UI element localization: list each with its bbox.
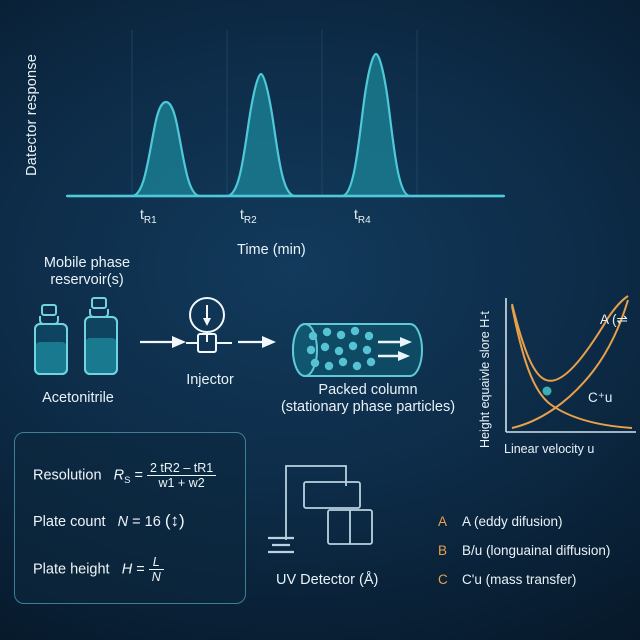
uv-detector-graphic bbox=[262, 430, 442, 570]
peak-label-tr2: tR2 bbox=[240, 206, 257, 226]
solvent-label: Acetonitrile bbox=[18, 390, 138, 407]
resolution-fraction: 2 tR2 – tR1 w1 + w2 bbox=[147, 461, 216, 490]
chromatogram-panel: Datector response tR1 tR2 tR4 Time (min) bbox=[12, 10, 512, 250]
van-deemter-total-curve bbox=[512, 296, 628, 381]
injector-label: Injector bbox=[160, 372, 260, 389]
injector-graphic bbox=[186, 298, 232, 352]
flow-diagram-panel: Mobile phase reservoir(s) bbox=[0, 250, 480, 430]
equation-resolution: Resolution RS = 2 tR2 – tR1 w1 + w2 bbox=[33, 461, 216, 490]
flow-arrow-1 bbox=[140, 336, 186, 348]
equation-plate-height: Plate height H = L N bbox=[33, 555, 164, 584]
van-deemter-panel: Height equaivle slore H-t A (⇌ C⁺u Linea… bbox=[478, 292, 640, 464]
diagram-canvas: Datector response tR1 tR2 tR4 Time (min) bbox=[0, 0, 640, 640]
solvent-bottle-1 bbox=[35, 305, 67, 374]
equations-box: Resolution RS = 2 tR2 – tR1 w1 + w2 Plat… bbox=[14, 432, 246, 604]
chromatogram-peaks bbox=[67, 54, 504, 196]
flow-arrow-2 bbox=[238, 336, 276, 348]
legend-text-c: Cʹu (mass transfer) bbox=[462, 572, 576, 587]
van-deemter-legend: A A (eddy difusion) B B/u (longuainal di… bbox=[432, 510, 640, 610]
van-deemter-a-label: A (⇌ bbox=[600, 312, 628, 328]
equation-plate-count: Plate count N = 16 (↕) bbox=[33, 511, 185, 531]
van-deemter-minimum-marker bbox=[543, 387, 552, 396]
legend-key-b: B bbox=[438, 543, 447, 558]
chromatogram-plot bbox=[12, 10, 512, 220]
peak-label-tr4: tR4 bbox=[354, 206, 371, 226]
van-deemter-y-axis-label: Height equaivle slore H-t bbox=[478, 298, 492, 448]
packed-column-graphic bbox=[293, 324, 422, 376]
legend-text-a: A (eddy difusion) bbox=[462, 514, 563, 529]
solvent-bottle-2 bbox=[85, 298, 117, 374]
uv-detector-lines bbox=[268, 538, 294, 552]
legend-key-c: C bbox=[438, 572, 448, 587]
van-deemter-x-axis-label: Linear velocity u bbox=[504, 442, 594, 456]
legend-text-b: B/u (longuainal diffusion) bbox=[462, 543, 610, 558]
plate-height-fraction: L N bbox=[149, 555, 164, 584]
van-deemter-c-label: C⁺u bbox=[588, 390, 612, 406]
peak-label-tr1: tR1 bbox=[140, 206, 157, 226]
plate-count-fraction: (↕) bbox=[165, 511, 185, 530]
packed-column-caption: Packed column (stationary phase particle… bbox=[268, 382, 468, 416]
uv-detector-caption: UV Detector (Å) bbox=[276, 572, 378, 588]
uv-detector-panel: UV Detector (Å) bbox=[262, 430, 442, 605]
legend-key-a: A bbox=[438, 514, 447, 529]
